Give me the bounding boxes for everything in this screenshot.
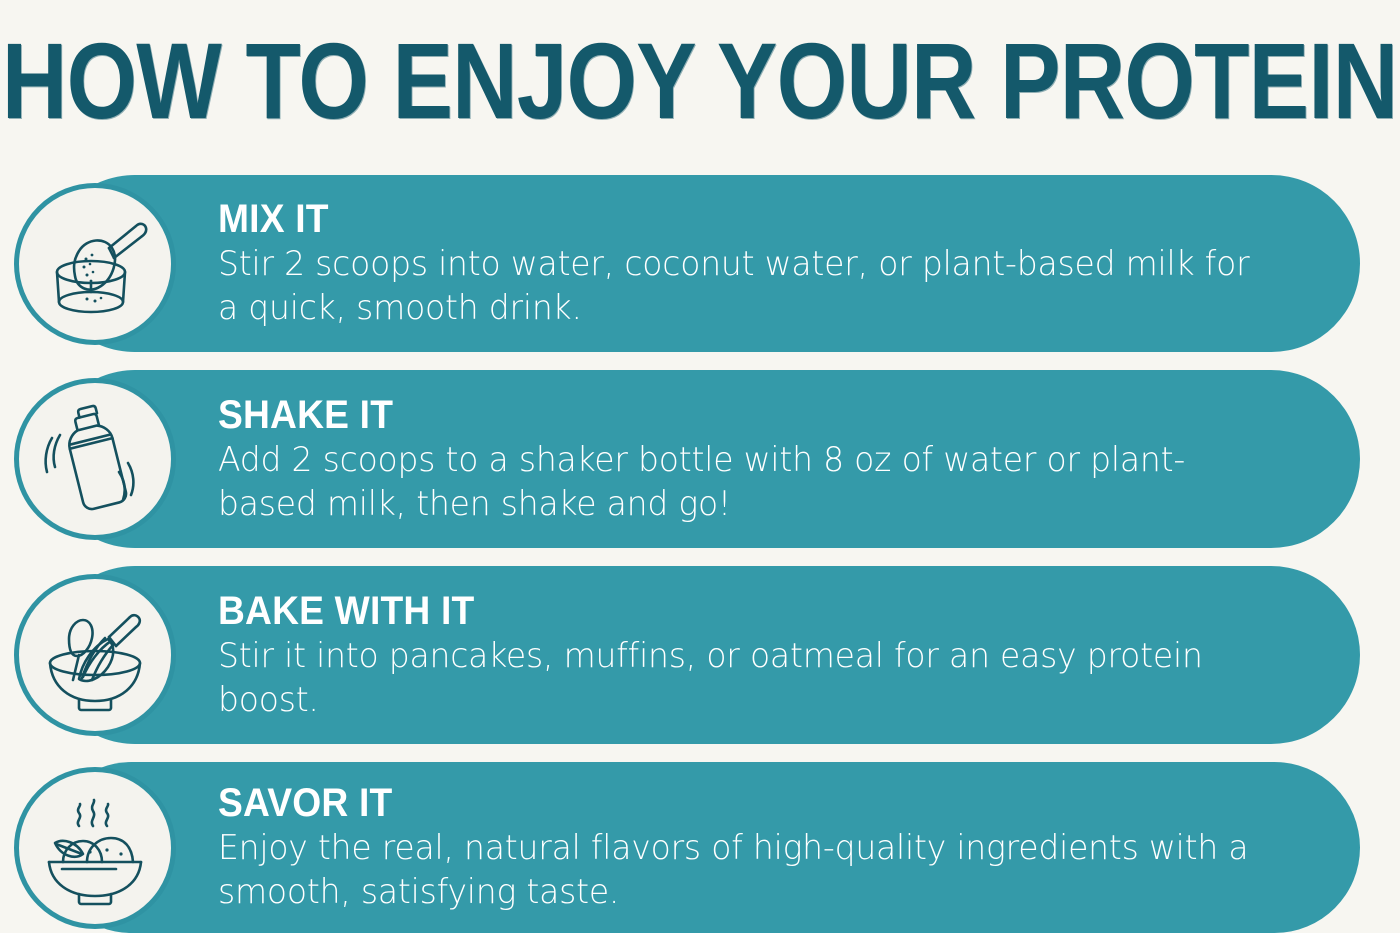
- instruction-card-mix-it[interactable]: MIX IT Stir 2 scoops into water, coconut…: [46, 175, 1360, 352]
- scoop-and-glass-icon: [14, 183, 176, 345]
- card-body: MIX IT Stir 2 scoops into water, coconut…: [218, 175, 1314, 352]
- card-body: SAVOR IT Enjoy the real, natural flavors…: [218, 762, 1314, 933]
- card-body: BAKE WITH IT Stir it into pancakes, muff…: [218, 566, 1314, 744]
- mixing-bowl-whisk-icon: [14, 574, 176, 736]
- instruction-card-list: MIX IT Stir 2 scoops into water, coconut…: [0, 162, 1400, 933]
- card-description: Stir it into pancakes, muffins, or oatme…: [218, 634, 1275, 722]
- instruction-card-savor-it[interactable]: SAVOR IT Enjoy the real, natural flavors…: [46, 762, 1360, 933]
- card-description: Stir 2 scoops into water, coconut water,…: [218, 242, 1275, 330]
- card-heading: SAVOR IT: [218, 781, 1237, 825]
- page-header: HOW TO ENJOY YOUR PROTEIN: [0, 0, 1400, 162]
- page-title: HOW TO ENJOY YOUR PROTEIN: [2, 27, 1397, 135]
- card-description: Enjoy the real, natural flavors of high-…: [218, 826, 1275, 914]
- card-heading: SHAKE IT: [218, 393, 1237, 437]
- card-heading: MIX IT: [218, 197, 1237, 241]
- card-body: SHAKE IT Add 2 scoops to a shaker bottle…: [218, 370, 1314, 548]
- card-description: Add 2 scoops to a shaker bottle with 8 o…: [218, 438, 1275, 526]
- steaming-bowl-icon: [14, 767, 176, 929]
- instruction-card-shake-it[interactable]: SHAKE IT Add 2 scoops to a shaker bottle…: [46, 370, 1360, 548]
- card-heading: BAKE WITH IT: [218, 589, 1237, 633]
- shaker-bottle-icon: [14, 378, 176, 540]
- instruction-card-bake-with-it[interactable]: BAKE WITH IT Stir it into pancakes, muff…: [46, 566, 1360, 744]
